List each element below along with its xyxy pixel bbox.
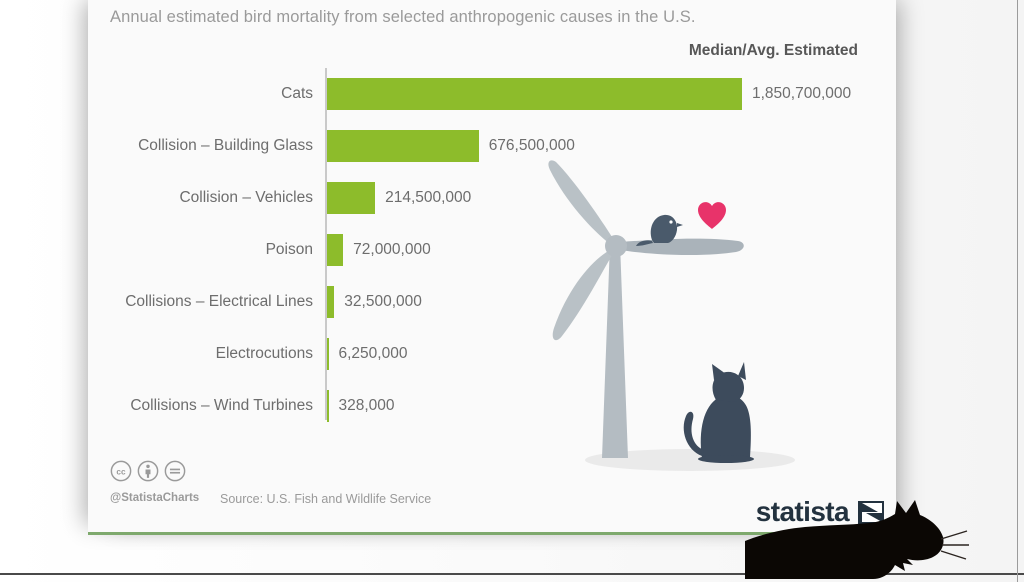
- source-note: Source: U.S. Fish and Wildlife Service: [220, 492, 431, 506]
- bar-chart-plot: Cats 1,850,700,000 Collision – Building …: [88, 68, 896, 420]
- category-label: Collision – Vehicles: [179, 189, 313, 207]
- cc-by-person-icon: [137, 460, 159, 482]
- table-row: Cats 1,850,700,000: [88, 68, 896, 120]
- table-row: Collisions – Electrical Lines 32,500,000: [88, 276, 896, 328]
- bar-value-label: 1,850,700,000: [752, 85, 851, 103]
- table-row: Collisions – Wind Turbines 328,000: [88, 380, 896, 432]
- cc-icon: cc: [110, 460, 132, 482]
- chart-title: Annual estimated bird mortality from sel…: [110, 8, 696, 27]
- cat-whiskers: [941, 531, 969, 559]
- category-label: Collisions – Wind Turbines: [130, 397, 313, 415]
- bar-poison: [327, 234, 343, 266]
- svg-text:cc: cc: [116, 468, 126, 477]
- bar-collisions-wind-turbines: [327, 390, 329, 422]
- window-right-border: [1017, 0, 1018, 582]
- category-label: Poison: [266, 241, 313, 259]
- bar-collisions-electrical-lines: [327, 286, 334, 318]
- category-label: Cats: [281, 85, 313, 103]
- table-row: Collision – Vehicles 214,500,000: [88, 172, 896, 224]
- bar-value-label: 214,500,000: [385, 189, 471, 207]
- bar-collision-vehicles: [327, 182, 375, 214]
- value-column-header: Median/Avg. Estimated: [689, 42, 858, 60]
- table-row: Collision – Building Glass 676,500,000: [88, 120, 896, 172]
- cc-nd-equals-icon: [164, 460, 186, 482]
- bar-value-label: 328,000: [339, 397, 395, 415]
- statista-charts-handle: @StatistaCharts: [110, 492, 199, 504]
- statista-wordmark: statista: [756, 498, 849, 526]
- bar-value-label: 676,500,000: [489, 137, 575, 155]
- category-label: Collision – Building Glass: [138, 137, 313, 155]
- category-label: Electrocutions: [216, 345, 313, 363]
- statista-chart-card: Annual estimated bird mortality from sel…: [88, 0, 896, 535]
- table-row: Poison 72,000,000: [88, 224, 896, 276]
- page-background: Annual estimated bird mortality from sel…: [0, 0, 1024, 582]
- bar-value-label: 32,500,000: [344, 293, 422, 311]
- window-bottom-border: [0, 573, 1024, 575]
- statista-logo: statista: [756, 498, 886, 526]
- category-label: Collisions – Electrical Lines: [125, 293, 313, 311]
- bar-value-label: 6,250,000: [339, 345, 408, 363]
- bar-value-label: 72,000,000: [353, 241, 431, 259]
- statista-logo-mark: [856, 499, 886, 526]
- bar-collision-building-glass: [327, 130, 479, 162]
- creative-commons-icons: cc: [110, 460, 186, 482]
- table-row: Electrocutions 6,250,000: [88, 328, 896, 380]
- bar-cats: [327, 78, 742, 110]
- bar-electrocutions: [327, 338, 329, 370]
